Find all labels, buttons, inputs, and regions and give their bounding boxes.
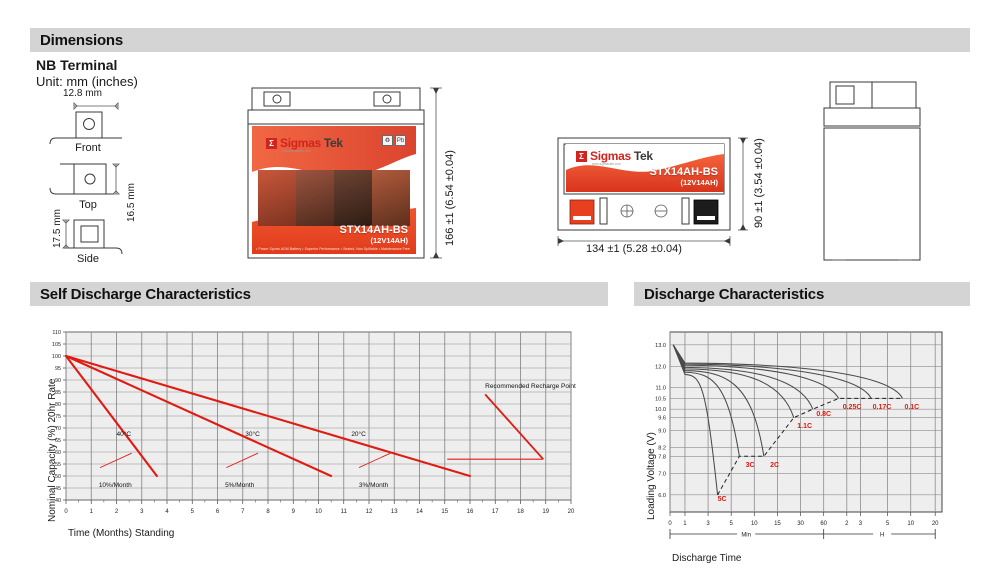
svg-text:8.2: 8.2 [658, 446, 666, 452]
battery-model-top: STX14AH-BS [650, 166, 718, 178]
svg-text:0: 0 [64, 509, 68, 515]
battery-top-label: Σ Sigmas Tek www.sigmastek.com STX14AH-B… [566, 144, 724, 192]
svg-text:15: 15 [774, 521, 781, 527]
discharge-x-axis-label: Discharge Time [672, 553, 741, 564]
self-discharge-chart: 4045505560657075808590951001051100123456… [40, 326, 580, 541]
svg-text:95: 95 [55, 366, 61, 372]
action-photo-strip [258, 170, 410, 226]
svg-text:9: 9 [292, 509, 296, 515]
svg-text:14: 14 [416, 509, 423, 515]
svg-text:6: 6 [216, 509, 220, 515]
svg-text:7.8: 7.8 [658, 454, 666, 460]
brand-url: www.sigmastek.com [282, 149, 311, 153]
svg-text:13.0: 13.0 [655, 343, 666, 349]
chart-annotation: 30°C [245, 431, 260, 438]
battery-width-dim: 134 ±1 (5.28 ±0.04) [586, 243, 682, 255]
svg-text:10: 10 [751, 521, 758, 527]
chart-annotation: 3%/Month [359, 482, 388, 489]
battery-height-dim: 166 ±1 (6.54 ±0.04) [444, 150, 456, 246]
unit-note: Unit: mm (inches) [36, 74, 138, 89]
brand-url-top: www.sigmastek.com [592, 162, 621, 166]
recycle-icon: ♻ [382, 135, 393, 146]
svg-text:3: 3 [706, 521, 710, 527]
chart-annotation: 5%/Month [225, 482, 254, 489]
svg-text:0: 0 [668, 521, 672, 527]
svg-text:16: 16 [467, 509, 474, 515]
self-discharge-y-axis-label: Nominal Capacity (%) 20hr Rate [47, 379, 58, 522]
discharge-curve-label: 0.8C [816, 411, 831, 418]
svg-text:30: 30 [797, 521, 804, 527]
svg-text:11: 11 [341, 509, 348, 515]
svg-text:10.5: 10.5 [655, 396, 666, 402]
svg-text:10: 10 [315, 509, 322, 515]
chart-annotation: 40°C [117, 431, 132, 438]
discharge-curve-label: 0.1C [904, 404, 919, 411]
chart-annotation: Recommended Recharge Point [485, 383, 576, 390]
svg-text:1: 1 [90, 509, 94, 515]
battery-side-outline [820, 80, 924, 266]
brand-name-primary-top: Sigmas [590, 149, 631, 163]
svg-text:8: 8 [266, 509, 270, 515]
sigma-mark-icon-top: Σ [576, 151, 587, 162]
svg-text:9.6: 9.6 [658, 416, 666, 422]
terminal-side-dim: 17.5 mm [52, 209, 63, 248]
svg-text:15: 15 [441, 509, 448, 515]
discharge-curve-label: 5C [718, 496, 727, 503]
discharge-curve-label: 3C [746, 462, 755, 469]
battery-front-label: Σ Sigmas Tek www.sigmastek.com ♻ Pb STX1… [252, 126, 416, 254]
sigma-mark-icon: Σ [266, 138, 277, 149]
svg-text:60: 60 [820, 521, 827, 527]
discharge-curve-label: 0.17C [873, 404, 892, 411]
svg-text:100: 100 [52, 354, 61, 360]
terminal-side-view [63, 220, 122, 254]
discharge-y-axis-label: Loading Voltage (V) [646, 432, 657, 520]
svg-text:10.0: 10.0 [655, 407, 666, 413]
svg-text:5: 5 [886, 521, 890, 527]
terminal-top-label: Top [58, 199, 118, 211]
terminal-top-view [50, 164, 119, 194]
svg-text:3: 3 [140, 509, 144, 515]
lead-pb-icon: Pb [395, 135, 406, 146]
chart-annotation: 10%/Month [99, 482, 132, 489]
battery-tagline: • Power Sports AGM Battery • Superior Pe… [256, 247, 410, 251]
svg-text:11.0: 11.0 [656, 386, 666, 392]
battery-capacity-top: (12V14AH) [680, 178, 718, 187]
svg-text:4: 4 [165, 509, 169, 515]
svg-text:105: 105 [52, 342, 61, 348]
terminal-width-dim: 12.8 mm [63, 88, 102, 99]
brand-name-secondary: Tek [324, 136, 343, 150]
terminal-side-label: Side [58, 253, 118, 265]
brand-name-secondary-top: Tek [634, 149, 653, 163]
svg-text:20: 20 [932, 521, 939, 527]
svg-text:Min: Min [741, 533, 751, 539]
terminal-diagrams [36, 92, 226, 272]
svg-text:12.0: 12.0 [655, 364, 666, 370]
svg-text:18: 18 [517, 509, 524, 515]
svg-text:17: 17 [492, 509, 499, 515]
self-discharge-x-axis-label: Time (Months) Standing [68, 528, 174, 539]
svg-text:20: 20 [568, 509, 575, 515]
nb-terminal-title: NB Terminal [36, 57, 117, 73]
discharge-curve-label: 1.1C [797, 423, 812, 430]
svg-text:3: 3 [859, 521, 863, 527]
svg-text:12: 12 [366, 509, 373, 515]
svg-text:H: H [880, 533, 884, 539]
svg-text:6.0: 6.0 [658, 493, 666, 499]
section-header-self-discharge: Self Discharge Characteristics [30, 282, 608, 306]
datasheet-page: Dimensions NB Terminal Unit: mm (inches) [0, 0, 1000, 574]
svg-text:7: 7 [241, 509, 245, 515]
terminal-top-dim: 16.5 mm [126, 183, 137, 222]
battery-capacity-front: (12V14AH) [370, 236, 408, 245]
svg-text:10: 10 [907, 521, 914, 527]
svg-text:9.0: 9.0 [658, 429, 666, 435]
discharge-curve-label: 2C [770, 462, 779, 469]
brand-logo: Σ Sigmas Tek [266, 136, 343, 150]
terminal-front-view [50, 103, 122, 144]
svg-text:13: 13 [391, 509, 398, 515]
battery-depth-dim: 90 ±1 (3.54 ±0.04) [753, 138, 765, 228]
svg-text:1: 1 [683, 521, 687, 527]
svg-text:5: 5 [191, 509, 195, 515]
terminal-front-label: Front [58, 142, 118, 154]
svg-text:110: 110 [52, 330, 61, 336]
svg-text:2: 2 [115, 509, 119, 515]
brand-name-primary: Sigmas [280, 136, 321, 150]
section-header-dimensions: Dimensions [30, 28, 970, 52]
battery-model-front: STX14AH-BS [340, 224, 408, 236]
brand-logo-top: Σ Sigmas Tek [576, 149, 653, 163]
svg-text:2: 2 [845, 521, 849, 527]
svg-text:19: 19 [542, 509, 549, 515]
svg-text:7.0: 7.0 [658, 471, 666, 477]
chart-annotation: 20°C [351, 431, 366, 438]
svg-text:5: 5 [730, 521, 734, 527]
discharge-chart: 6.07.07.88.29.09.610.010.511.012.013.001… [640, 326, 970, 556]
discharge-curve-label: 0.25C [843, 404, 862, 411]
label-certification-icons: ♻ Pb [382, 135, 406, 146]
section-header-discharge: Discharge Characteristics [634, 282, 970, 306]
